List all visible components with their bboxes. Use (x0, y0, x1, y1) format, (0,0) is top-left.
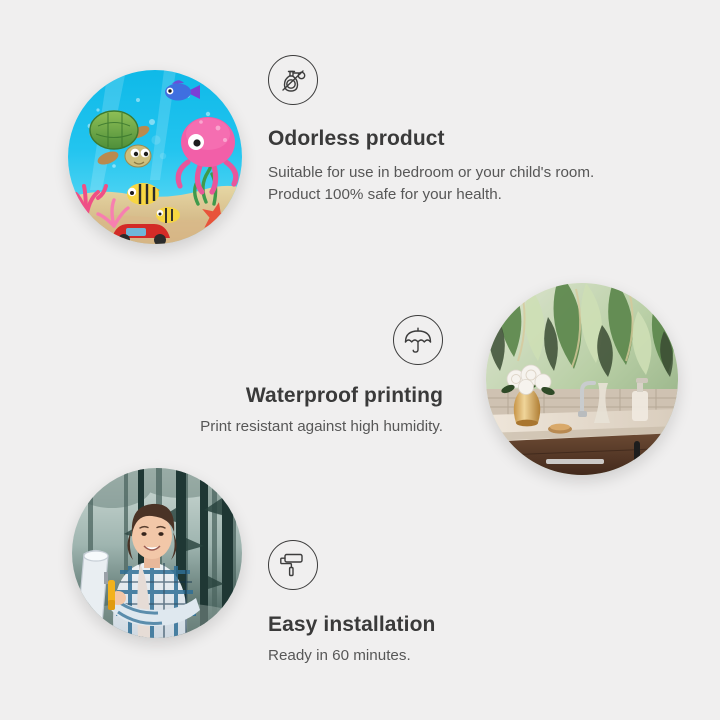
feature-description: Ready in 60 minutes. (268, 645, 588, 667)
striped-fish-small (156, 207, 180, 223)
bathroom-vanity-wallpaper-photo[interactable]: Bathroom vanity with tropical green leaf… (486, 283, 678, 475)
feature-highlights-panel: Cartoon underwater scene with green sea … (0, 0, 720, 720)
no-odor-perfume-bottle-icon (268, 55, 318, 105)
feature-title: Odorless product (268, 126, 608, 152)
umbrella-icon (393, 315, 443, 365)
bathroom-photo-illustration: Bathroom vanity with tropical green leaf… (486, 283, 678, 475)
feature-installation: Easy installation Ready in 60 minutes. (268, 540, 588, 667)
feature-title: Easy installation (268, 612, 588, 638)
forest-photo-illustration: Smiling woman in plaid shirt holding a p… (72, 468, 242, 638)
feature-description: Print resistant against high humidity. (143, 416, 443, 438)
feature-odorless: Odorless product Suitable for use in bed… (268, 55, 608, 205)
feature-title: Waterproof printing (143, 383, 443, 409)
feature-waterproof: Waterproof printing Print resistant agai… (143, 315, 443, 438)
woman-with-paint-roller-photo[interactable]: Smiling woman in plaid shirt holding a p… (72, 468, 242, 638)
underwater-illustration: Cartoon underwater scene with green sea … (68, 70, 242, 244)
paint-roller-icon (268, 540, 318, 590)
underwater-cartoon-mural-photo[interactable]: Cartoon underwater scene with green sea … (68, 70, 242, 244)
feature-description: Suitable for use in bedroom or your chil… (268, 162, 608, 205)
